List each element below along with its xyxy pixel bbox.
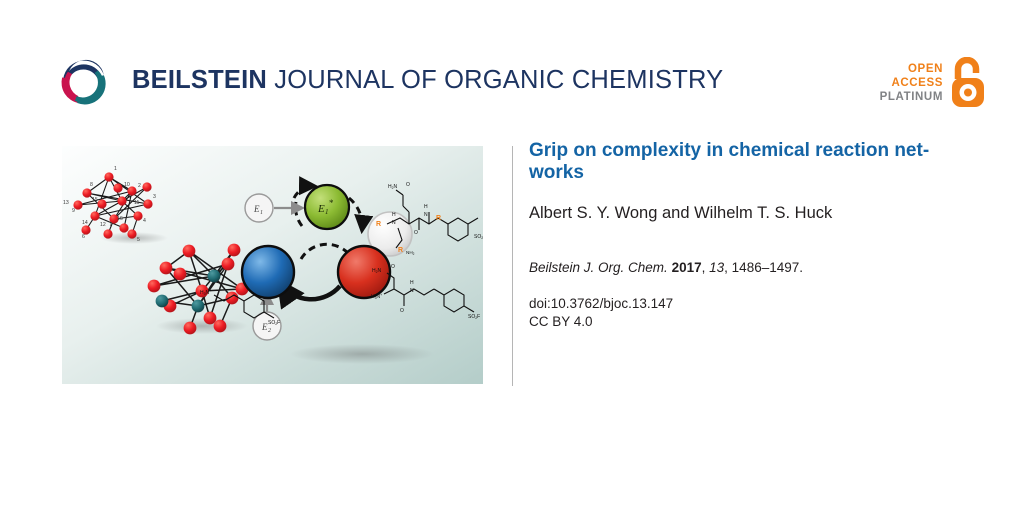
node-label-15: 15: [92, 197, 98, 203]
activated-star: *: [329, 198, 334, 208]
label-h2n-top: H2N: [388, 184, 398, 190]
citation-year: 2017: [672, 260, 702, 275]
vertical-divider: [512, 146, 513, 386]
journal-brand[interactable]: BEILSTEIN JOURNAL OF ORGANIC CHEMISTRY: [54, 52, 723, 110]
open-access-line-platinum: PLATINUM: [880, 90, 943, 104]
sphere-red-product: [338, 246, 390, 298]
beilstein-logo-icon: [54, 52, 112, 110]
node-label-2: 2: [138, 183, 141, 189]
enzyme-2-label: E: [261, 322, 268, 332]
label-so2f-left: SO2F: [268, 320, 280, 326]
enzyme-1-node: E 1: [245, 194, 273, 222]
node-label-3: 3: [153, 194, 156, 200]
masthead: BEILSTEIN JOURNAL OF ORGANIC CHEMISTRY O…: [0, 0, 1024, 140]
network-node-highlight: [208, 270, 221, 283]
node-label-1: 1: [114, 166, 117, 172]
label-so2f-bottom: SO2F: [468, 314, 480, 320]
label-o-top-1: O: [406, 182, 410, 188]
citation-sep-3: ,: [724, 260, 732, 275]
enzyme-2-sub: 2: [268, 328, 271, 334]
citation-sep-2: ,: [702, 260, 710, 275]
open-access-line-open: OPEN: [880, 62, 943, 76]
open-access-words: OPEN ACCESS PLATINUM: [880, 62, 943, 104]
citation-volume: 13: [709, 260, 724, 275]
activated-sub: 1: [325, 208, 329, 216]
node-label-5: 5: [137, 237, 140, 243]
node-label-16: 16: [117, 216, 123, 222]
node-label-11: 11: [134, 200, 139, 206]
brand-bold-text: BEILSTEIN: [132, 66, 267, 94]
brand-light-text: JOURNAL OF ORGANIC CHEMISTRY: [267, 66, 723, 94]
open-lock-icon: [949, 57, 989, 109]
article-title[interactable]: Grip on complexity in chemical reaction …: [529, 140, 965, 184]
r-group-label-1: R: [376, 221, 381, 228]
journal-title: BEILSTEIN JOURNAL OF ORGANIC CHEMISTRY: [132, 68, 723, 94]
node-label-12: 12: [100, 222, 106, 228]
network-shadow-lower: [156, 318, 248, 334]
sphere-blue-substrate: [242, 246, 294, 298]
article-info: Grip on complexity in chemical reaction …: [529, 140, 979, 331]
label-h2n-bottom: H2N: [372, 268, 382, 274]
node-label-7: 7: [109, 222, 112, 228]
node-label-10: 10: [124, 182, 130, 188]
open-access-badge: OPEN ACCESS PLATINUM: [880, 57, 989, 109]
node-label-9: 9: [72, 208, 75, 214]
node-label-6: 6: [82, 234, 85, 240]
citation-pages: 1486–1497.: [732, 260, 803, 275]
network-node-highlight: [192, 300, 205, 313]
open-access-line-access: ACCESS: [880, 76, 943, 90]
node-label-8: 8: [90, 182, 93, 188]
label-n-top-1: N: [392, 220, 396, 226]
article-license[interactable]: CC BY 4.0: [529, 313, 979, 331]
abstract-illustration: 1 2 3 4 5 6 7 8 9 10 11 12 13 14 15 16: [62, 146, 483, 384]
activated-label: E: [317, 203, 325, 215]
label-o-bottom-2: O: [400, 308, 404, 314]
label-h-bottom: H: [410, 280, 414, 286]
graphical-abstract[interactable]: 1 2 3 4 5 6 7 8 9 10 11 12 13 14 15 16: [62, 146, 483, 384]
label-o-top-2: O: [414, 230, 418, 236]
article-doi[interactable]: doi:10.3762/bjoc.13.147: [529, 295, 979, 313]
label-n-top-2: N: [424, 212, 428, 218]
node-label-13: 13: [63, 200, 69, 206]
node-label-4: 4: [143, 218, 146, 224]
label-h-top-1: H: [392, 212, 396, 218]
enzyme-1-label: E: [253, 204, 260, 214]
node-label-14: 14: [82, 220, 88, 226]
citation-journal: Beilstein J. Org. Chem.: [529, 260, 668, 275]
enzyme-1-sub: 1: [260, 210, 263, 216]
article-citation: Beilstein J. Org. Chem. 2017, 13, 1486–1…: [529, 259, 979, 277]
label-h-top-2: H: [424, 204, 428, 210]
label-o-bottom-1: O: [391, 264, 395, 270]
r-group-label-3: R: [398, 247, 403, 254]
r-group-label-2: R: [436, 215, 441, 222]
label-n-bottom: N: [410, 288, 414, 294]
network-node-highlight: [156, 295, 169, 308]
sphere-green-activated: E 1 *: [305, 185, 349, 229]
article-authors: Albert S. Y. Wong and Wilhelm T. S. Huck: [529, 203, 979, 223]
cycle-shadow: [290, 344, 434, 364]
